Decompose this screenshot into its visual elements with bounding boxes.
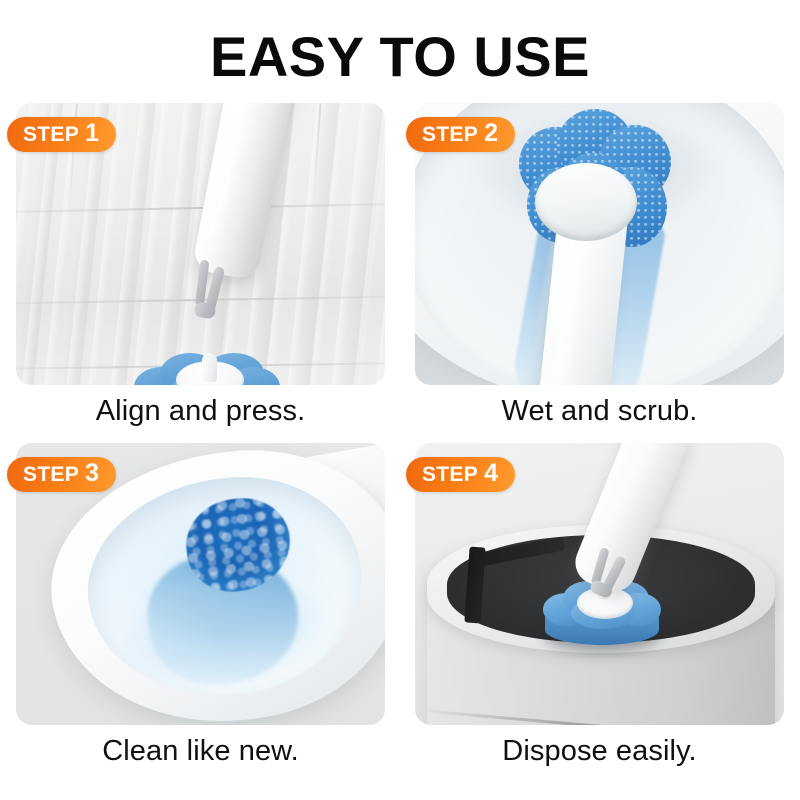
pad-attachment-nub <box>202 353 217 382</box>
step-badge-label: STEP <box>23 124 79 145</box>
wand-head-collar <box>535 163 637 241</box>
step-caption-3: Clean like new. <box>16 735 385 768</box>
step-card-4: STEP 4 Dispose easily. <box>415 443 784 783</box>
step-badge-number: 2 <box>484 121 498 146</box>
blue-flower-cleaning-pad <box>134 353 280 385</box>
step-badge-number: 3 <box>85 461 99 486</box>
step-card-1: STEP 1 Align and press. <box>16 103 385 443</box>
step-badge-4: STEP 4 <box>406 457 515 492</box>
step-badge-number: 4 <box>484 461 498 486</box>
step-badge-label: STEP <box>422 464 478 485</box>
step-caption-2: Wet and scrub. <box>415 395 784 428</box>
page-title: EASY TO USE <box>0 28 800 87</box>
steps-grid: STEP 1 Align and press. <box>16 103 784 783</box>
step-caption-1: Align and press. <box>16 395 385 428</box>
step-badge-number: 1 <box>85 121 99 146</box>
step-badge-3: STEP 3 <box>7 457 116 492</box>
infographic-page: EASY TO USE <box>0 0 800 800</box>
step-badge-label: STEP <box>23 464 79 485</box>
step-caption-4: Dispose easily. <box>415 735 784 768</box>
step-badge-1: STEP 1 <box>7 117 116 152</box>
step-badge-label: STEP <box>422 124 478 145</box>
step-card-2: STEP 2 Wet and scrub. <box>415 103 784 443</box>
step-badge-2: STEP 2 <box>406 117 515 152</box>
step-card-3: STEP 3 Clean like new. <box>16 443 385 783</box>
